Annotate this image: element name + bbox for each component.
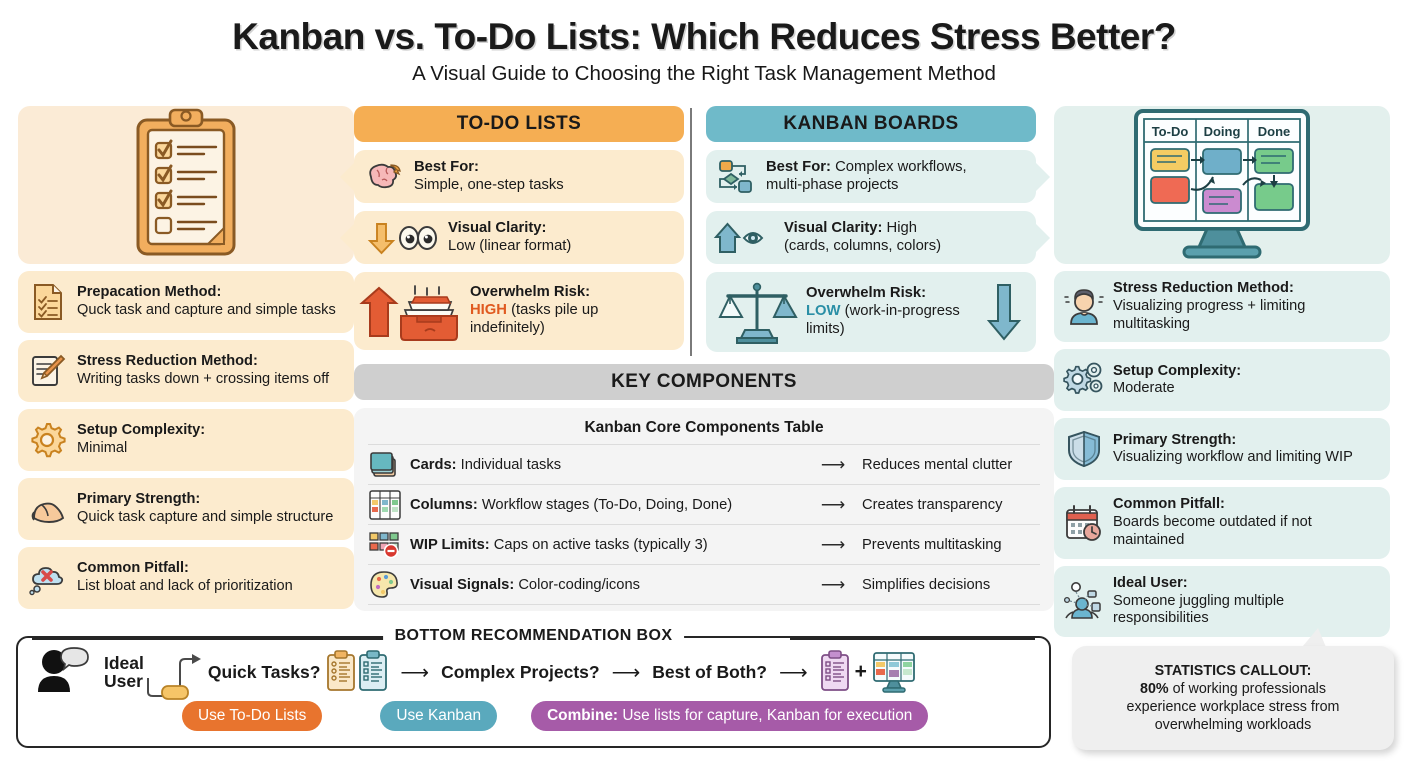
table-term-cell: WIP Limits: Caps on active tasks (typica… [410, 537, 804, 553]
combine-icons: + [820, 651, 916, 693]
left-card-setup-complexity: Setup Complexity: Minimal [18, 409, 354, 471]
card-value: Quick task capture and simple structure [77, 509, 333, 525]
decision-flow: Ideal User Quick Tasks? [18, 638, 1049, 746]
todo-feature-overwhelm-risk: Overwhelm Risk: HIGH (tasks pile up inde… [354, 272, 684, 350]
kanban-feature-text: Visual Clarity: High (cards, columns, co… [784, 220, 941, 256]
card-value: Moderate [1113, 380, 1175, 396]
left-card-text: Stress Reduction Method: Writing tasks d… [77, 353, 329, 389]
flow-question-1: Quick Tasks? [208, 662, 321, 683]
arrow-icon-3: ⟶ [767, 660, 820, 685]
right-card-common-pitfall: Common Pitfall: Boards become outdated i… [1054, 487, 1390, 558]
card-label: Primary Strength: [77, 491, 200, 507]
feature-label: Overwhelm Risk: [470, 284, 590, 300]
pill-combine-label: Combine: [547, 707, 618, 725]
todo-lists-header: TO-DO LISTS [354, 106, 684, 142]
todo-feature-text: Visual Clarity: Low (linear format) [448, 220, 571, 256]
shield-icon [1064, 429, 1104, 469]
table-benefit: Creates transparency [862, 497, 1040, 513]
todo-feature-text: Best For: Simple, one-step tasks [414, 159, 564, 195]
todo-feature-text: Overwhelm Risk: HIGH (tasks pile up inde… [470, 284, 673, 337]
pointer-tail [1035, 223, 1050, 253]
balance-scale-icon [717, 280, 797, 344]
right-card-text: Common Pitfall: Boards become outdated i… [1113, 496, 1379, 549]
workflow-nodes-icon [717, 159, 757, 195]
left-card-text: Common Pitfall: List bloat and lack of p… [77, 560, 293, 596]
table-caption: Kanban Core Components Table [368, 416, 1040, 444]
kanban-boards-panel: KANBAN BOARDS [706, 106, 1036, 352]
flow-recommendations-row: Use To-Do Lists Use Kanban Combine: Use … [34, 696, 1035, 736]
table-term: Cards: [410, 457, 457, 473]
clipboard-icon [130, 110, 242, 260]
card-label: Stress Reduction Method: [77, 353, 258, 369]
pill-use-todo-lists[interactable]: Use To-Do Lists [182, 701, 322, 731]
center-column: TO-DO LISTS Best For: [354, 106, 1054, 626]
feature-value: High [887, 220, 917, 236]
monitor-icon: To-Do Doing Done [1114, 109, 1330, 261]
left-card-common-pitfall: Common Pitfall: List bloat and lack of p… [18, 547, 354, 609]
stat-text-2: experience workplace stress from [1127, 699, 1340, 715]
right-card-primary-strength: Primary Strength: Visualizing workflow a… [1054, 418, 1390, 480]
kanban-feature-text: Overwhelm Risk: LOW (work-in-progress li… [806, 285, 978, 338]
calendar-clock-icon [1064, 503, 1104, 543]
curved-connector-arrow-icon [146, 644, 208, 700]
left-card-primary-strength: Primary Strength: Quick task capture and… [18, 478, 354, 540]
card-label: Common Pitfall: [1113, 496, 1225, 512]
feature-value: Simple, one-step tasks [414, 177, 564, 193]
card-label: Primary Strength: [1113, 432, 1236, 448]
left-card-text: Setup Complexity: Minimal [77, 422, 205, 458]
left-card-text: Primary Strength: Quick task capture and… [77, 491, 333, 527]
ideal-user-line1: Ideal [104, 653, 144, 673]
right-card-stress-reduction-method: Stress Reduction Method: Visualizing pro… [1054, 271, 1390, 342]
up-arrow-inbox-tray-icon [365, 280, 461, 342]
table-term: Visual Signals: [410, 577, 514, 593]
right-card-ideal-user: Ideal User: Someone juggling multiple re… [1054, 566, 1390, 637]
brain-icon [365, 161, 405, 193]
pointer-tail [340, 223, 355, 253]
teal-clipboard-icon [358, 651, 388, 693]
feature-label: Best For: [766, 159, 831, 175]
pill-use-kanban[interactable]: Use Kanban [380, 701, 497, 731]
card-label: Ideal User: [1113, 575, 1188, 591]
clipboard-checklist-illustration [18, 106, 354, 264]
right-card-text: Setup Complexity: Moderate [1113, 363, 1241, 399]
svg-text:To-Do: To-Do [1152, 124, 1189, 139]
card-value: Someone juggling multiple responsibiliti… [1113, 593, 1284, 627]
feature-label: Overwhelm Risk: [806, 285, 926, 301]
callout-title: STATISTICS CALLOUT: [1155, 663, 1312, 679]
table-term: WIP Limits: [410, 537, 490, 553]
table-row: Cards: Individual tasks ⟶ Reduces mental… [368, 444, 1040, 484]
table-description: Individual tasks [461, 457, 561, 473]
wip-limit-icon [368, 530, 402, 560]
down-arrow-icon [987, 281, 1025, 343]
table-term-cell: Visual Signals: Color-coding/icons [410, 577, 804, 593]
todo-feature-best-for: Best For: Simple, one-step tasks [354, 150, 684, 203]
person-juggling-tasks-icon [1064, 581, 1104, 621]
feature-label: Visual Clarity: [784, 220, 882, 236]
left-card-preparation-method: Prepacation Method: Quck task and captur… [18, 271, 354, 333]
feature-label: Visual Clarity: [448, 220, 546, 236]
card-label: Common Pitfall: [77, 560, 189, 576]
right-card-text: Ideal User: Someone juggling multiple re… [1113, 575, 1379, 628]
left-card-stress-reduction-method: Stress Reduction Method: Writing tasks d… [18, 340, 354, 402]
kanban-feature-visual-clarity: Visual Clarity: High (cards, columns, co… [706, 211, 1036, 264]
kanban-monitor-icon [872, 651, 916, 693]
card-value: Minimal [77, 440, 127, 456]
ideal-user-avatar-icon [34, 644, 102, 700]
card-label: Setup Complexity: [1113, 363, 1241, 379]
orange-clipboard-icon [326, 651, 356, 693]
card-value: Visualizing progress + limiting multitas… [1113, 298, 1305, 332]
card-value: List bloat and lack of prioritization [77, 578, 293, 594]
table-benefit: Prevents multitasking [862, 537, 1040, 553]
right-card-text: Stress Reduction Method: Visualizing pro… [1113, 280, 1379, 333]
stacked-cards-icon [368, 450, 402, 480]
table-term: Columns: [410, 497, 478, 513]
todo-feature-visual-clarity: Visual Clarity: Low (linear format) [354, 211, 684, 264]
risk-level: HIGH [470, 302, 507, 318]
svg-text:Doing: Doing [1204, 124, 1241, 139]
card-label: Stress Reduction Method: [1113, 280, 1294, 296]
header-block: Kanban vs. To-Do Lists: Which Reduces St… [0, 0, 1408, 86]
card-value: Quck task and capture and simple tasks [77, 302, 336, 318]
table-row: Visual Signals: Color-coding/icons ⟶ Sim… [368, 564, 1040, 605]
kanban-feature-text: Best For: Complex workflows, multi-phase… [766, 159, 967, 195]
statistics-callout-text: STATISTICS CALLOUT: 80% of working profe… [1127, 662, 1340, 735]
table-row: WIP Limits: Caps on active tasks (typica… [368, 524, 1040, 564]
main-content: Prepacation Method: Quck task and captur… [0, 106, 1408, 626]
page-subtitle: A Visual Guide to Choosing the Right Tas… [0, 62, 1408, 86]
card-value: Visualizing workflow and limiting WIP [1113, 449, 1353, 465]
column-divider [690, 108, 692, 356]
table-term-cell: Columns: Workflow stages (To-Do, Doing, … [410, 497, 804, 513]
arrow-icon: ⟶ [812, 535, 854, 555]
pencil-writing-icon [28, 351, 68, 391]
kanban-feature-best-for: Best For: Complex workflows, multi-phase… [706, 150, 1036, 203]
kanban-board-monitor-illustration: To-Do Doing Done [1054, 106, 1390, 264]
board-columns-icon [368, 490, 402, 520]
feature-value-line2: multi-phase projects [766, 177, 898, 193]
ideal-user-label: Ideal User [102, 654, 144, 690]
stat-value: 80% [1140, 681, 1169, 697]
right-card-text: Primary Strength: Visualizing workflow a… [1113, 432, 1353, 468]
stat-text-3: overwhelming workloads [1155, 717, 1312, 733]
left-column: Prepacation Method: Quck task and captur… [0, 106, 354, 626]
todo-lists-panel: TO-DO LISTS Best For: [354, 106, 684, 352]
arrow-icon-1: ⟶ [388, 660, 441, 685]
table-term-cell: Cards: Individual tasks [410, 457, 804, 473]
down-arrow-eyes-icon [365, 221, 439, 255]
statistics-callout: STATISTICS CALLOUT: 80% of working profe… [1072, 646, 1394, 750]
feature-value-line2: (cards, columns, colors) [784, 238, 941, 254]
card-value: Boards become outdated if not maintained [1113, 514, 1312, 548]
right-card-setup-complexity: Setup Complexity: Moderate [1054, 349, 1390, 411]
person-relaxed-icon [1064, 287, 1104, 327]
palette-icon [368, 570, 402, 600]
table-description: Color-coding/icons [518, 577, 640, 593]
left-card-text: Prepacation Method: Quck task and captur… [77, 284, 336, 320]
plus-sign: + [855, 660, 867, 684]
flow-question-3: Best of Both? [652, 662, 767, 683]
clipboard-pair-icons [320, 651, 388, 693]
bottom-recommendation-box: BOTTOM RECOMMENDATION BOX Ideal User [16, 636, 1051, 748]
feature-value: Complex workflows, [835, 159, 967, 175]
gears-icon [1064, 360, 1104, 400]
card-label: Prepacation Method: [77, 284, 221, 300]
checklist-document-icon [28, 282, 68, 322]
comparison-panels: TO-DO LISTS Best For: [354, 106, 1054, 352]
flow-questions-row: Ideal User Quick Tasks? [34, 648, 1035, 696]
table-description: Caps on active tasks (typically 3) [494, 537, 708, 553]
kanban-boards-header: KANBAN BOARDS [706, 106, 1036, 142]
table-benefit: Simplifies decisions [862, 577, 1040, 593]
card-label: Setup Complexity: [77, 422, 205, 438]
arrow-icon-2: ⟶ [600, 660, 653, 685]
arrow-icon: ⟶ [812, 495, 854, 515]
purple-clipboard-icon [820, 651, 850, 693]
risk-level: LOW [806, 303, 841, 319]
arrow-icon: ⟶ [812, 455, 854, 475]
feature-value: Low (linear format) [448, 238, 571, 254]
right-column: To-Do Doing Done [1054, 106, 1408, 626]
cloud-error-icon [28, 558, 68, 598]
kanban-core-components-table: Kanban Core Components Table Cards: Indi… [354, 408, 1054, 611]
flexed-biceps-icon [28, 489, 68, 529]
arrow-icon: ⟶ [812, 575, 854, 595]
kanban-feature-overwhelm-risk: Overwhelm Risk: LOW (work-in-progress li… [706, 272, 1036, 352]
pill-combine[interactable]: Combine: Use lists for capture, Kanban f… [531, 701, 928, 731]
flow-question-2: Complex Projects? [441, 662, 600, 683]
card-value: Writing tasks down + crossing items off [77, 371, 329, 387]
pointer-tail [340, 162, 355, 192]
pill-combine-text: Use lists for capture, Kanban for execut… [622, 707, 912, 725]
ideal-user-line2: User [104, 671, 143, 691]
table-benefit: Reduces mental clutter [862, 457, 1040, 473]
gear-icon [28, 420, 68, 460]
page-title: Kanban vs. To-Do Lists: Which Reduces St… [0, 16, 1408, 58]
feature-label: Best For: [414, 159, 479, 175]
table-row: Columns: Workflow stages (To-Do, Doing, … [368, 484, 1040, 524]
up-arrow-eye-icon [717, 221, 775, 255]
svg-text:Done: Done [1258, 124, 1291, 139]
stat-text-1: of working professionals [1169, 681, 1326, 697]
pointer-tail [1035, 162, 1050, 192]
key-components-header: KEY COMPONENTS [354, 364, 1054, 400]
table-description: Workflow stages (To-Do, Doing, Done) [482, 497, 732, 513]
